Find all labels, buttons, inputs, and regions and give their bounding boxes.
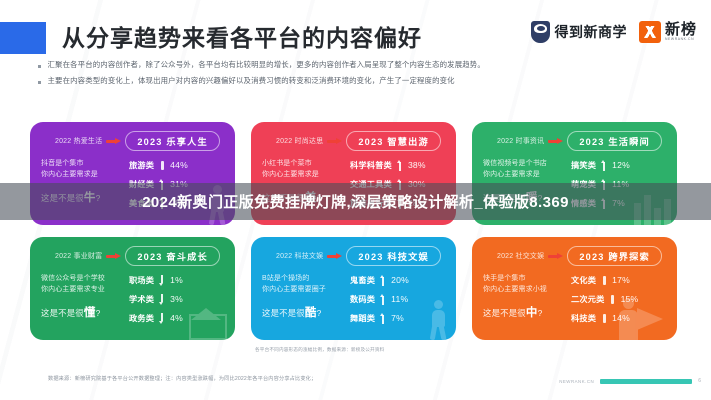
bullet-list: 汇聚在各平台的内容创作者，除了公众号外，各平台均有比较明显的增长，更多的内容创作… [38,60,678,93]
metric-name: 二次元类 [571,293,605,305]
question-keyword: 酷 [305,307,317,319]
question-keyword: 美 [305,192,317,204]
question-suffix: ? [538,193,543,203]
platform-card-kuaishou[interactable]: 2022 社交文娱 2023 跨界探索 快手是个集市 你内心主要需求小视 这是不… [472,237,677,340]
question-suffix: ? [96,193,101,203]
year-new-badge: 2023 智慧出游 [346,131,441,151]
metric-row: 情感类 7% [571,197,666,209]
card-body: 快手是个集市 你内心主要需求小视 这是不是很中? 文化类 17% 二次元类 15… [483,273,666,324]
footer-page-number: 6 [698,378,701,384]
metric-row: 旅游出行类 28% [350,197,445,209]
arrow-right-icon [327,252,342,260]
trend-up-icon [380,275,386,286]
metric-value: 15% [621,294,639,304]
metric-row: 数码类 11% [350,293,445,305]
metric-row: 旅游类 44% [129,159,224,171]
metric-row: 科学科普类 38% [350,159,445,171]
metric-name: 搞笑类 [571,159,596,171]
metric-row: 学术类 3% [129,293,224,305]
metric-row: 交通工具类 30% [350,178,445,190]
metric-name: 财经类 [129,178,154,190]
year-old-label: 2022 事业财富 [55,251,102,261]
card-description: B站是个操场的 你内心主要需要圈子 这是不是很酷? [262,273,346,320]
card-body: 微信公众号是个学校 你内心主要需求专业 这是不是很懂? 职场类 1% 学术类 3… [41,273,224,324]
metric-name: 交通工具类 [350,178,392,190]
year-old-label: 2022 热爱生活 [55,136,102,146]
question-prefix: 这是不是很 [262,308,305,318]
logo-dedao: 得到新商学 [531,21,627,43]
metric-name: 学术类 [129,293,154,305]
trend-up-icon [380,313,386,324]
metric-name: 鬼畜类 [350,274,375,286]
metric-row: 职场类 1% [129,274,224,286]
card-description: 快手是个集市 你内心主要需求小视 这是不是很中? [483,273,567,320]
card-body: 微信视频号是个书店 你内心主要需求是 这是不是很暖? 搞笑类 12% 萌宠类 1… [483,158,666,209]
card-metrics: 鬼畜类 20% 数码类 11% 舞蹈类 7% [350,273,445,324]
metric-row: 鬼畜类 20% [350,274,445,286]
question-suffix: ? [538,308,543,318]
card-question: 这是不是很酷? [262,304,346,320]
card-metrics: 文化类 17% 二次元类 15% 科技类 14% [571,273,666,324]
trend-flat-icon [601,313,607,324]
metric-value: 11% [612,179,629,189]
metric-value: 44% [170,160,188,170]
metric-value: 30% [408,179,426,189]
trend-up-icon [601,198,607,209]
question-prefix: 这是不是很 [483,193,526,203]
metric-name: 旅游出行类 [350,197,392,209]
bullet-item: 汇聚在各平台的内容创作者，除了公众号外，各平台均有比较明显的增长，更多的内容创作… [38,60,678,69]
footer-accent-bar [600,379,692,384]
metric-name: 数码类 [350,293,375,305]
arrow-right-icon [548,252,563,260]
year-old-label: 2022 科技文娱 [276,251,323,261]
question-keyword: 暖 [526,192,538,204]
card-body: B站是个操场的 你内心主要需要圈子 这是不是很酷? 鬼畜类 20% 数码类 11… [262,273,445,324]
metric-value: 1% [170,275,183,285]
metric-value: 3% [170,294,183,304]
trend-up-icon [380,294,386,305]
card-question: 这是不是很懂? [41,304,125,320]
trend-down-icon [159,275,165,286]
trend-up-icon [601,179,607,190]
card-description: 微信公众号是个学校 你内心主要需求专业 这是不是很懂? [41,273,125,320]
grid-caption: 各平台不同内容形态的涨幅比例，数据来源：新榜及公开资料 [255,347,384,353]
metric-row: 搞笑类 12% [571,159,666,171]
arrow-right-icon [327,137,342,145]
card-header: 2022 热爱生活 2023 乐享人生 [41,131,224,151]
card-description: 小红书是个菜市 你内心主要需求是 这是不是很美? [262,158,346,205]
card-description: 抖音是个集市 你内心主要需求是 这是不是很牛? [41,158,125,205]
trend-up-icon [397,179,403,190]
title-accent-block [0,22,46,54]
metric-value: 7% [391,313,404,323]
arrow-right-icon [106,137,121,145]
metric-name: 政务类 [129,312,154,324]
card-desc-line: 抖音是个集市 [41,159,125,170]
metric-value: 31% [170,179,188,189]
metric-value: 28% [408,198,426,208]
card-desc-line: 微信公众号是个学校 [41,274,125,285]
logo-newrank-label: 新榜 [665,21,697,38]
footer-right-group: NEWRANK.CN 6 [559,378,701,384]
card-desc-line: B站是个操场的 [262,274,346,285]
question-prefix: 这是不是很 [262,193,305,203]
metric-row: 政务类 4% [129,312,224,324]
card-desc-line: 微信视频号是个书店 [483,159,567,170]
trend-flat-icon [159,160,165,171]
metric-name: 职场类 [129,274,154,286]
arrow-right-icon [106,252,121,260]
trend-flat-icon [610,294,616,305]
question-prefix: 这是不是很 [41,308,84,318]
year-new-badge: 2023 乐享人生 [125,131,220,151]
card-desc-line: 你内心主要需求专业 [41,285,125,296]
metric-row: 舞蹈类 7% [350,312,445,324]
metric-value: 20% [391,275,409,285]
platform-card-xiaohongshu[interactable]: 2022 时尚达思 2023 智慧出游 小红书是个菜市 你内心主要需求是 这是不… [251,122,456,225]
metric-row: 财经类 31% [129,178,224,190]
metric-value: 38% [408,160,426,170]
card-desc-line: 你内心主要需求是 [483,170,567,181]
metric-row: 美食类 28% [129,197,224,209]
metric-name: 舞蹈类 [350,312,375,324]
year-new-badge: 2023 生活瞬间 [567,131,662,151]
card-question: 这是不是很暖? [483,189,567,205]
trend-up-icon [397,198,403,209]
metric-name: 旅游类 [129,159,154,171]
question-keyword: 牛 [84,192,96,204]
metric-name: 文化类 [571,274,596,286]
bullet-dot-icon [38,81,41,84]
card-header: 2022 时尚达思 2023 智慧出游 [262,131,445,151]
platform-card-shipinhao[interactable]: 2022 时事资讯 2023 生活瞬间 微信视频号是个书店 你内心主要需求是 这… [472,122,677,225]
metric-row: 萌宠类 11% [571,178,666,190]
shield-icon [531,21,550,43]
metric-value: 17% [612,275,630,285]
metric-value: 28% [170,198,188,208]
metric-value: 12% [612,160,630,170]
card-desc-line: 你内心主要需求是 [41,170,125,181]
footer-brand-label: NEWRANK.CN [559,379,594,384]
card-metrics: 科学科普类 38% 交通工具类 30% 旅游出行类 28% [350,158,445,209]
metric-value: 7% [612,198,625,208]
card-question: 这是不是很美? [262,189,346,205]
slide-header: 从分享趋势来看各平台的内容偏好 得到新商学 新榜 NEWRANK.CN 汇聚在各… [0,0,711,104]
question-suffix: ? [317,193,322,203]
card-description: 微信视频号是个书店 你内心主要需求是 这是不是很暖? [483,158,567,205]
card-body: 小红书是个菜市 你内心主要需求是 这是不是很美? 科学科普类 38% 交通工具类… [262,158,445,209]
year-old-label: 2022 社交文娱 [497,251,544,261]
bullet-dot-icon [38,65,41,68]
question-keyword: 懂 [84,307,96,319]
card-desc-line: 你内心主要需求是 [262,170,346,181]
card-desc-line: 你内心主要需要圈子 [262,285,346,296]
metric-name: 情感类 [571,197,596,209]
year-new-badge: 2023 科技文娱 [346,246,441,266]
year-new-badge: 2023 跨界探索 [567,246,662,266]
metric-name: 科技类 [571,312,596,324]
footer-source-note: 数据来源：新榜研究院基于各平台公开数据整理；注：内容类型涨跌幅，为同比2022年… [48,375,316,382]
arrow-right-icon [548,137,563,145]
newrank-mark-icon [639,21,661,43]
trend-up-icon [397,160,403,171]
bullet-text: 汇聚在各平台的内容创作者，除了公众号外，各平台均有比较明显的增长，更多的内容创作… [48,60,485,69]
metric-name: 科学科普类 [350,159,392,171]
bullet-text: 主要在内容类型的变化上，体现出用户对内容的兴趣偏好以及消费习惯的转变和泛消费环境… [48,76,455,85]
metric-value: 11% [391,294,408,304]
card-desc-line: 你内心主要需求小视 [483,285,567,296]
logo-bar: 得到新商学 新榜 NEWRANK.CN [531,21,697,43]
card-question: 这是不是很牛? [41,189,125,205]
platform-card-bilibili[interactable]: 2022 科技文娱 2023 科技文娱 B站是个操场的 你内心主要需要圈子 这是… [251,237,456,340]
card-question: 这是不是很中? [483,304,567,320]
card-header: 2022 社交文娱 2023 跨界探索 [483,246,666,266]
logo-newrank: 新榜 NEWRANK.CN [639,21,697,43]
question-suffix: ? [317,308,322,318]
card-header: 2022 事业财富 2023 奋斗成长 [41,246,224,266]
metric-name: 萌宠类 [571,178,596,190]
metric-row: 二次元类 15% [571,293,666,305]
trend-up-icon [159,198,165,209]
platform-card-grid: 2022 热爱生活 2023 乐享人生 抖音是个集市 你内心主要需求是 这是不是… [30,122,685,340]
card-body: 抖音是个集市 你内心主要需求是 这是不是很牛? 旅游类 44% 财经类 31% [41,158,224,209]
year-old-label: 2022 时事资讯 [497,136,544,146]
question-prefix: 这是不是很 [483,308,526,318]
card-header: 2022 科技文娱 2023 科技文娱 [262,246,445,266]
year-new-badge: 2023 奋斗成长 [125,246,220,266]
logo-newrank-sub: NEWRANK.CN [665,38,697,41]
card-header: 2022 时事资讯 2023 生活瞬间 [483,131,666,151]
question-keyword: 中 [526,307,538,319]
page-title: 从分享趋势来看各平台的内容偏好 [62,19,422,53]
platform-card-gongzhonghao[interactable]: 2022 事业财富 2023 奋斗成长 微信公众号是个学校 你内心主要需求专业 … [30,237,235,340]
year-old-label: 2022 时尚达思 [276,136,323,146]
trend-up-icon [601,160,607,171]
trend-down-icon [159,313,165,324]
slide-canvas: 从分享趋势来看各平台的内容偏好 得到新商学 新榜 NEWRANK.CN 汇聚在各… [0,0,711,400]
metric-row: 科技类 14% [571,312,666,324]
metric-value: 14% [612,313,630,323]
logo-dedao-label: 得到新商学 [554,22,627,42]
metric-value: 4% [170,313,183,323]
question-suffix: ? [96,308,101,318]
metric-row: 文化类 17% [571,274,666,286]
trend-down-icon [159,294,165,305]
card-desc-line: 快手是个集市 [483,274,567,285]
question-prefix: 这是不是很 [41,193,84,203]
bullet-item: 主要在内容类型的变化上，体现出用户对内容的兴趣偏好以及消费习惯的转变和泛消费环境… [38,76,678,85]
card-metrics: 职场类 1% 学术类 3% 政务类 4% [129,273,224,324]
platform-card-douyin[interactable]: 2022 热爱生活 2023 乐享人生 抖音是个集市 你内心主要需求是 这是不是… [30,122,235,225]
metric-name: 美食类 [129,197,154,209]
trend-flat-icon [601,275,607,286]
card-metrics: 旅游类 44% 财经类 31% 美食类 28% [129,158,224,209]
trend-up-icon [159,179,165,190]
card-metrics: 搞笑类 12% 萌宠类 11% 情感类 7% [571,158,666,209]
card-desc-line: 小红书是个菜市 [262,159,346,170]
